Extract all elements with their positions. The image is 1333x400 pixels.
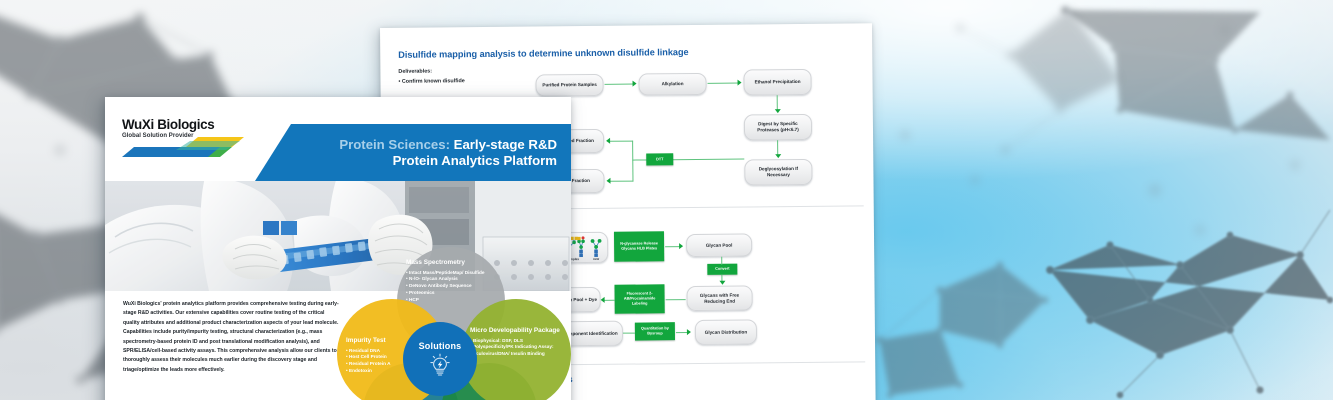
flow-tag-quantitation[interactable]: Quantitation by Bysroup bbox=[635, 322, 675, 340]
flow-tag-convert[interactable]: Convert bbox=[707, 264, 737, 275]
flow-arrow bbox=[632, 159, 647, 160]
flow-arrow bbox=[609, 180, 633, 181]
circle-micro-developability[interactable]: Micro Developability Package Biophysical… bbox=[461, 299, 571, 400]
brochure-title-banner: Protein Sciences: Early-stage R&D Protei… bbox=[255, 124, 571, 181]
banner-title-part1: Early-stage R&D bbox=[454, 137, 557, 152]
glycan-new: new bbox=[590, 235, 602, 261]
flow-arrow bbox=[666, 299, 686, 300]
flow-arrowhead bbox=[719, 281, 725, 285]
logo-company-name: WuXi Biologics bbox=[122, 117, 252, 132]
list-item: Polyspecificity/PK Indicating Assay: Bac… bbox=[470, 344, 562, 357]
flow-node-glycan-distribution[interactable]: Glycan Distribution bbox=[695, 319, 757, 345]
wuxi-biologics-logo[interactable]: WuXi Biologics Global Solution Provider bbox=[122, 117, 252, 161]
banner-title-part2: Protein Analytics Platform bbox=[393, 153, 557, 169]
circle-items: Biophysical: DSF, DLS Polyspecificity/PK… bbox=[470, 338, 562, 358]
list-item: DeNovo Antibody Sequence bbox=[406, 283, 496, 290]
flow-tag-dtt[interactable]: DTT bbox=[646, 153, 673, 165]
flow-arrow bbox=[623, 333, 635, 334]
flow-node-glycans-free-reducing-end[interactable]: Glycans with Free Reducing End bbox=[686, 285, 752, 311]
circle-items: Intact Mass/PeptideMap/ Disulfide N-/O- … bbox=[406, 270, 496, 303]
flow-node-purified-protein-samples[interactable]: Purified Protein Samples bbox=[535, 74, 603, 97]
list-item: HCP bbox=[406, 297, 496, 304]
list-item: Intact Mass/PeptideMap/ Disulfide bbox=[406, 270, 496, 277]
flow-tag-fluorescent-labeling[interactable]: Fluorescent 2-AB/Procainamide Labeling bbox=[614, 284, 664, 313]
list-item: N-/O- Glycan Analysis bbox=[406, 276, 496, 283]
flow-node-alkylation[interactable]: Alkylation bbox=[638, 73, 706, 96]
disulfide-section-heading: Disulfide mapping analysis to determine … bbox=[398, 45, 856, 59]
flow-arrowhead bbox=[687, 329, 691, 335]
flow-arrowhead bbox=[601, 297, 605, 303]
banner-prefix: Protein Sciences: bbox=[339, 137, 450, 152]
flow-node-digest-proteases[interactable]: Digest by Specific Proteases (pH<6.7) bbox=[744, 114, 812, 141]
brochure-body-copy: WuXi Biologics' protein analytics platfo… bbox=[123, 300, 339, 375]
flow-arrowhead bbox=[775, 154, 781, 158]
flow-arrow bbox=[721, 257, 722, 265]
circle-solutions-center[interactable]: Solutions bbox=[403, 322, 477, 396]
front-brochure[interactable]: WuXi Biologics Global Solution Provider … bbox=[105, 97, 571, 400]
glycan-label: new bbox=[593, 257, 599, 261]
flow-arrowhead bbox=[679, 243, 683, 249]
flow-arrowhead bbox=[633, 81, 637, 87]
flow-node-glycan-pool[interactable]: Glycan Pool bbox=[686, 233, 752, 257]
flow-node-deglycosylation[interactable]: Deglycosylation If Necessary bbox=[744, 159, 812, 186]
flow-arrowhead bbox=[606, 178, 610, 184]
flow-node-ethanol-precipitation[interactable]: Ethanol Precipitation bbox=[743, 69, 811, 96]
glycan-icon bbox=[590, 235, 602, 256]
logo-swoosh-icon bbox=[120, 137, 248, 159]
lightbulb-icon bbox=[430, 353, 450, 377]
flow-arrowhead bbox=[774, 109, 780, 113]
solutions-label: Solutions bbox=[419, 341, 462, 351]
flow-arrow bbox=[609, 140, 633, 141]
flow-arrow bbox=[672, 159, 744, 161]
list-item: Biophysical: DSF, DLS bbox=[470, 338, 562, 345]
flow-arrow bbox=[605, 84, 636, 86]
circle-title: Mass Spectrometry bbox=[406, 259, 496, 267]
circle-title: Micro Developability Package bbox=[470, 327, 562, 335]
list-item: Proteomics bbox=[406, 290, 496, 297]
flow-arrowhead bbox=[606, 138, 610, 144]
flow-arrow bbox=[708, 83, 741, 85]
solutions-venn-diagram: Mass Spectrometry Intact Mass/PeptideMap… bbox=[333, 247, 571, 400]
flow-tag-n-glycanase[interactable]: N-glycanase Release Glycans HLB Plates bbox=[614, 231, 664, 261]
banner-line-1: Protein Sciences: Early-stage R&D bbox=[339, 137, 557, 153]
flow-arrowhead bbox=[738, 80, 742, 86]
